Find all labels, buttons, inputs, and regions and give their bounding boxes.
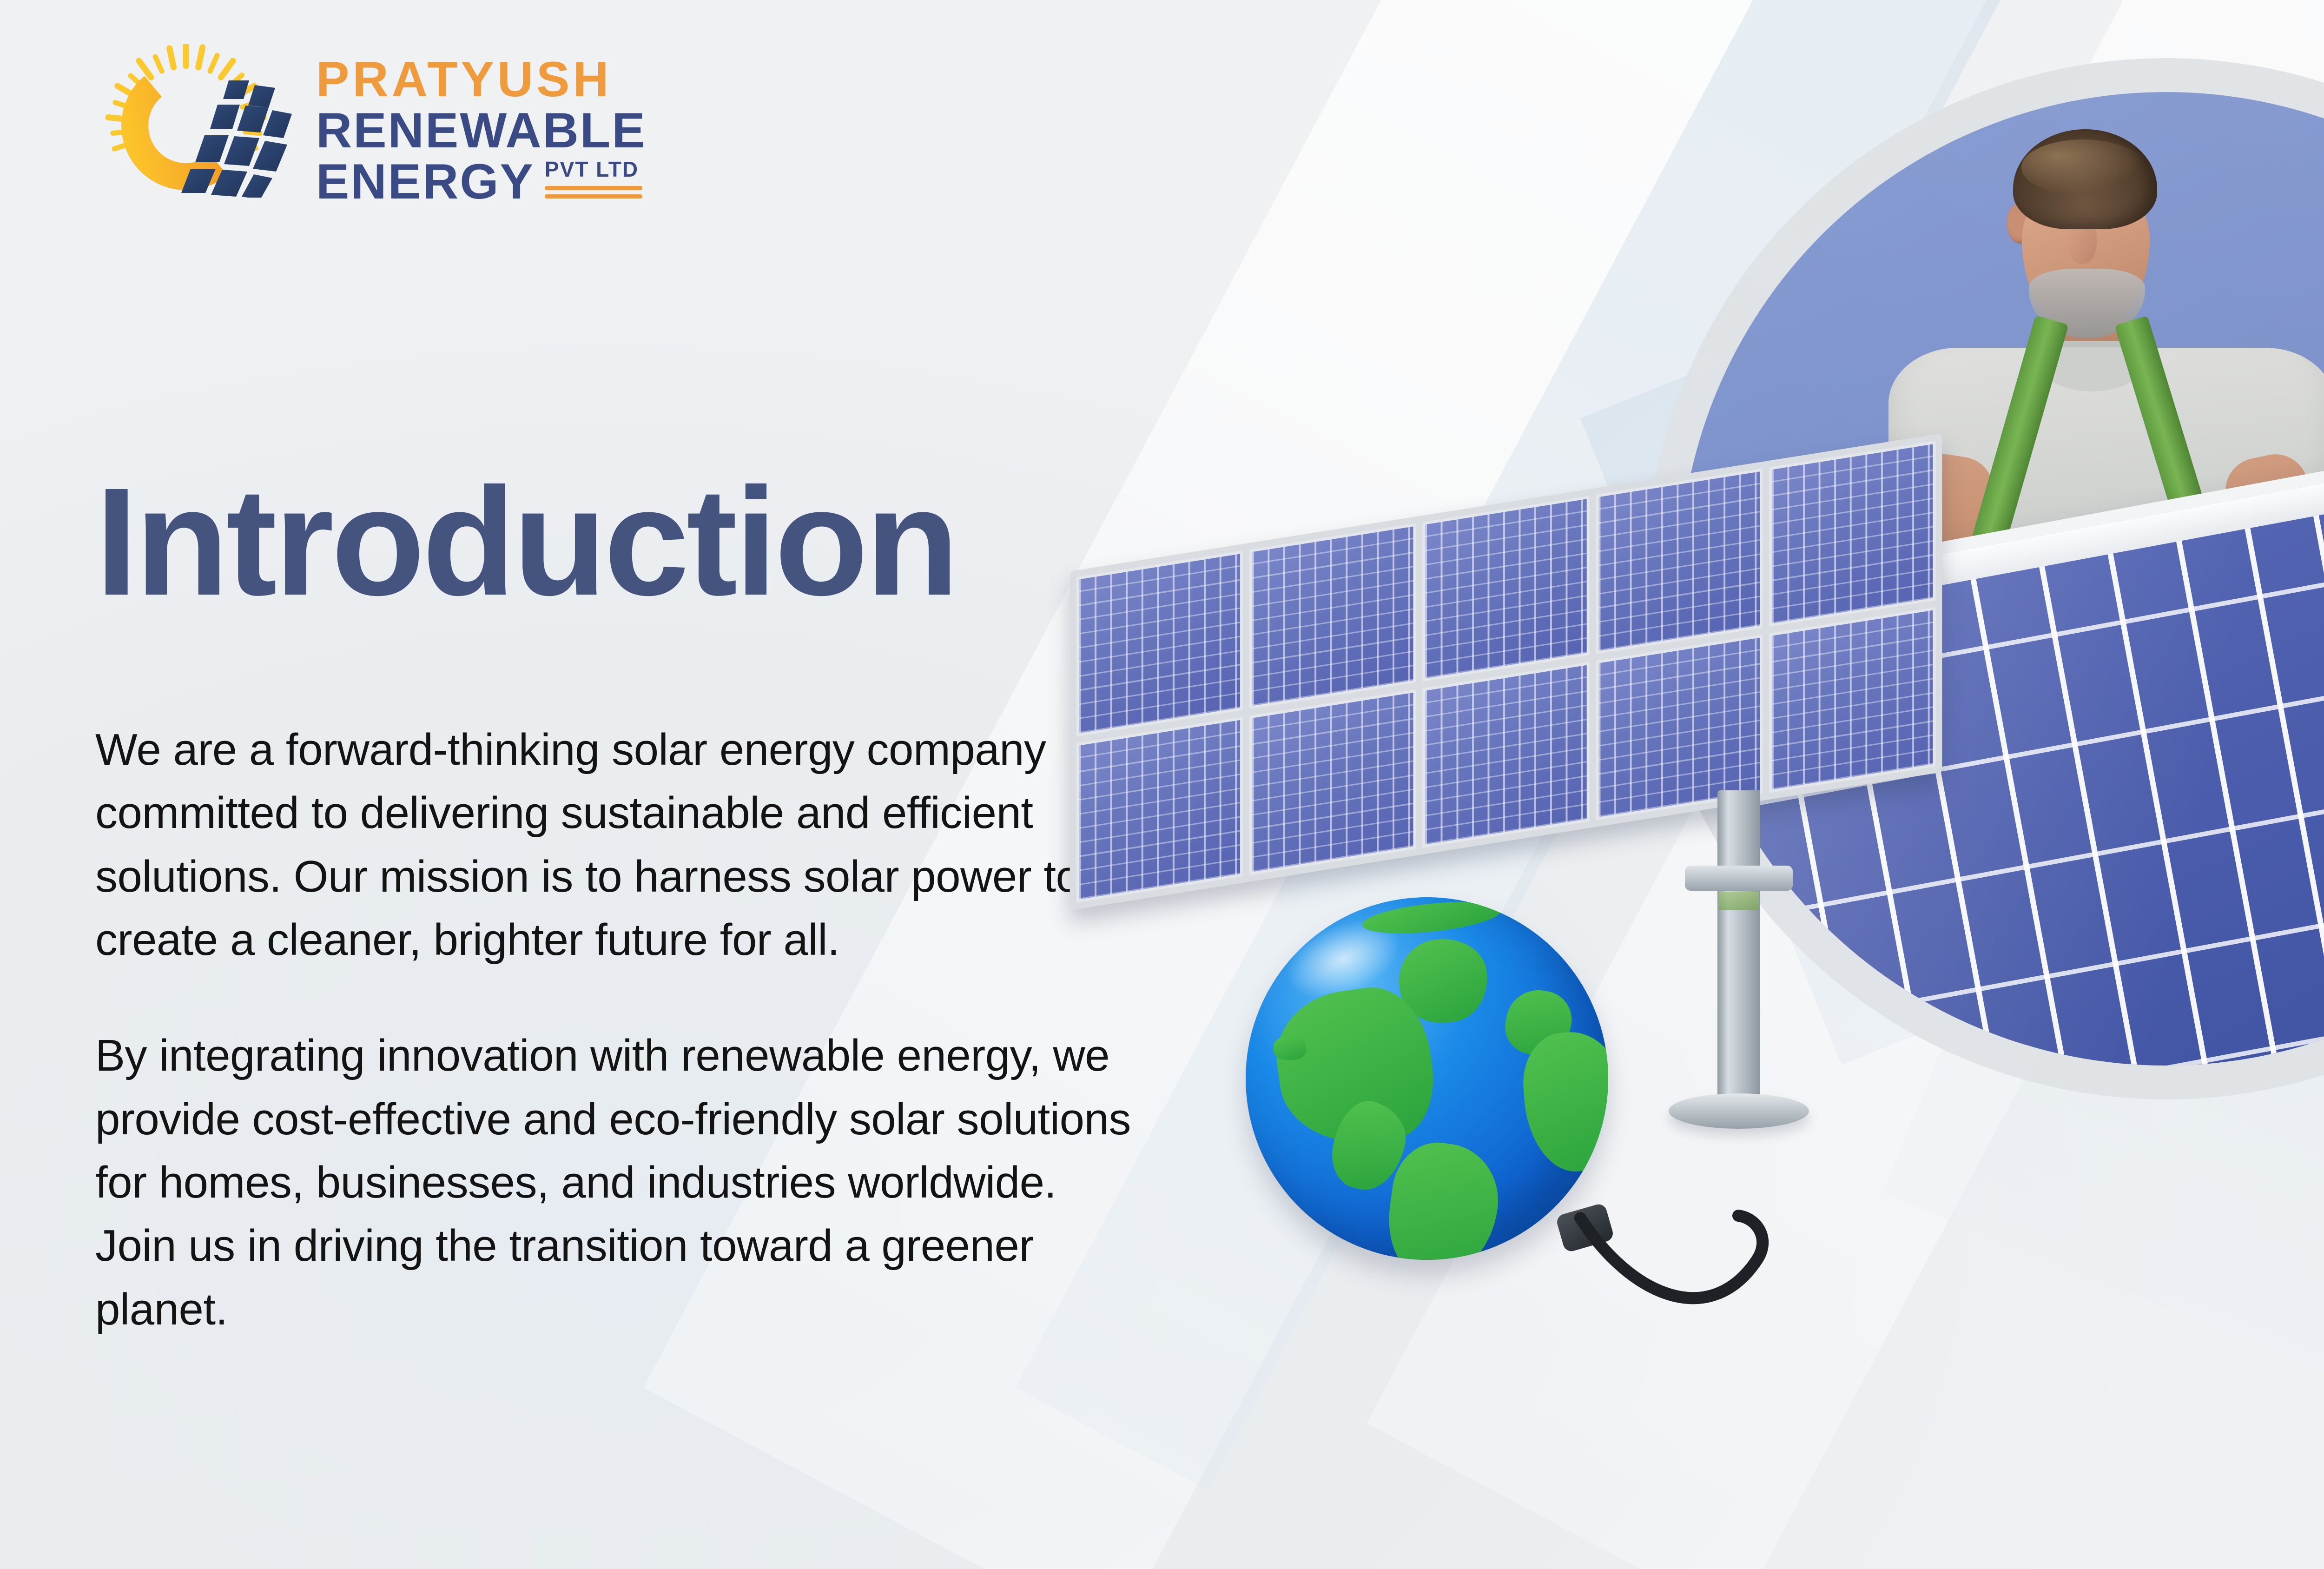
paragraph-2: By integrating innovation with renewable… [95,1024,1141,1341]
hero-artwork [1139,0,2324,1569]
globe-landmass-iceland [1274,1037,1306,1060]
array-support-pole [1717,790,1760,1116]
array-panel [1596,468,1763,654]
array-panel [1076,717,1243,903]
logo-underline-rules [545,186,642,199]
logo-rule-bottom [545,194,642,199]
paragraph-1: We are a forward-thinking solar energy c… [95,718,1141,972]
page-title: Introduction [95,465,957,618]
array-panel [1076,550,1243,736]
pole-flange [1685,866,1793,891]
slide-root: PRATYUSH RENEWABLE ENERGY PVT LTD Introd… [0,0,2324,1569]
sun-solar-panel-logo-icon [93,44,302,198]
array-panel [1249,523,1416,709]
power-cable [1571,1190,1794,1330]
array-panel [1769,441,1936,627]
array-panel [1769,607,1936,793]
body-copy: We are a forward-thinking solar energy c… [95,718,1141,1341]
globe-landmass-africa [1520,1029,1608,1175]
pole-green-tint [1719,892,1759,910]
logo-rule-top [545,186,642,190]
earth-globe [1246,897,1608,1260]
worker-hair [2013,129,2157,229]
logo-text-energy: ENERGY [316,156,535,207]
logo-text-pratyush: PRATYUSH [316,53,647,105]
array-panel [1249,689,1416,875]
logo-text-renewable: RENEWABLE [316,105,647,156]
array-panel [1423,496,1590,682]
brand-logo[interactable]: PRATYUSH RENEWABLE ENERGY PVT LTD [93,44,911,198]
array-panel [1423,662,1590,848]
logo-text-pvt-ltd: PVT LTD [545,159,642,180]
logo-wordmark: PRATYUSH RENEWABLE ENERGY PVT LTD [316,53,647,207]
pole-base-plate [1669,1093,1809,1129]
